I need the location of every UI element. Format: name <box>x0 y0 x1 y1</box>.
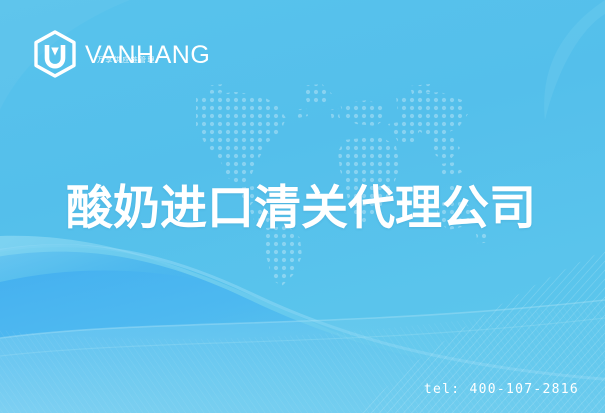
logo-text-group: VANHANG 万享供应链管理 <box>85 30 210 78</box>
contact-phone[interactable]: tel: 400-107-2816 <box>424 382 579 397</box>
brand-logo[interactable]: VANHANG 万享供应链管理 <box>32 30 210 78</box>
logo-subtitle: 万享供应链管理 <box>97 56 156 65</box>
vanhang-hexagon-u-logo-icon <box>32 30 78 78</box>
headline-title: 酸奶进口清关代理公司 <box>66 183 536 235</box>
promotional-banner: VANHANG 万享供应链管理 酸奶进口清关代理公司 tel: 400-107-… <box>0 0 605 413</box>
